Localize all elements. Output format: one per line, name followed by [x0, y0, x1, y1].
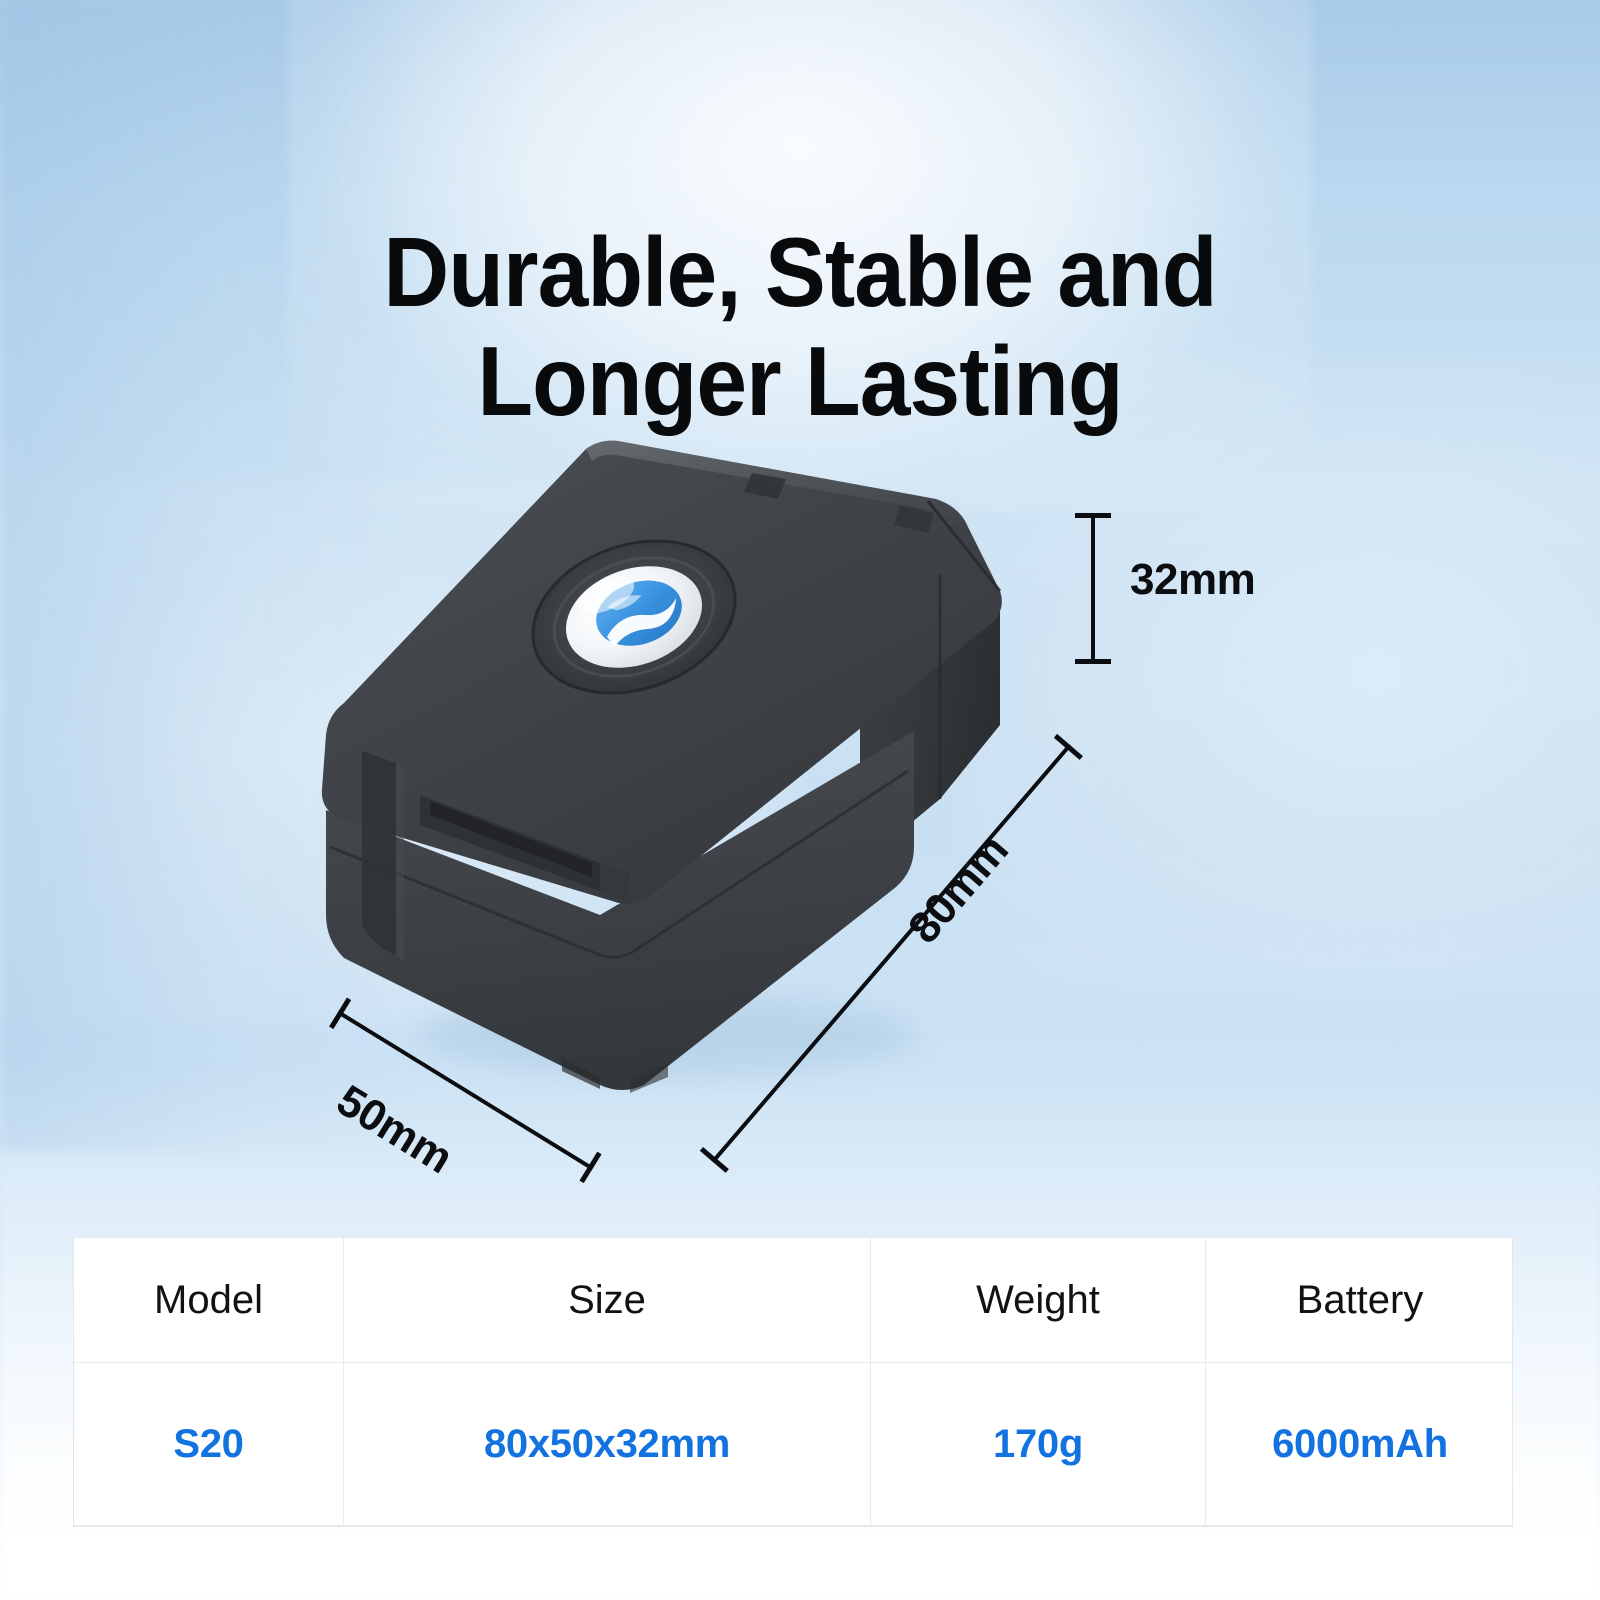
table-header-label: Battery	[1297, 1278, 1424, 1323]
table-value-label: 6000mAh	[1272, 1422, 1448, 1467]
table-header-label: Weight	[976, 1278, 1100, 1323]
table-value-cell-weight: 170g	[871, 1363, 1206, 1526]
dimension-height-cap-bottom	[1075, 659, 1111, 664]
battery-pack-render	[300, 395, 1020, 1095]
table-header-cell-model: Model	[74, 1238, 344, 1363]
product-feature-page: Durable, Stable and Longer Lasting	[0, 0, 1600, 1600]
background-cloud-right	[960, 352, 1600, 992]
dimension-height-label: 32mm	[1130, 555, 1255, 605]
table-value-cell-model: S20	[74, 1363, 344, 1526]
specification-table: Model Size Weight Battery S20 80x50x32mm…	[73, 1237, 1513, 1527]
table-value-cell-battery: 6000mAh	[1206, 1363, 1514, 1526]
table-header-cell-battery: Battery	[1206, 1238, 1514, 1363]
table-header-label: Size	[568, 1278, 646, 1323]
table-header-cell-size: Size	[344, 1238, 871, 1363]
table-value-cell-size: 80x50x32mm	[344, 1363, 871, 1526]
table-value-label: 80x50x32mm	[484, 1422, 730, 1467]
table-value-label: S20	[173, 1422, 243, 1467]
dimension-height-line	[1091, 516, 1095, 663]
table-header-cell-weight: Weight	[871, 1238, 1206, 1363]
product-image	[300, 395, 1020, 1095]
table-header-label: Model	[154, 1278, 263, 1323]
table-value-label: 170g	[993, 1422, 1083, 1467]
